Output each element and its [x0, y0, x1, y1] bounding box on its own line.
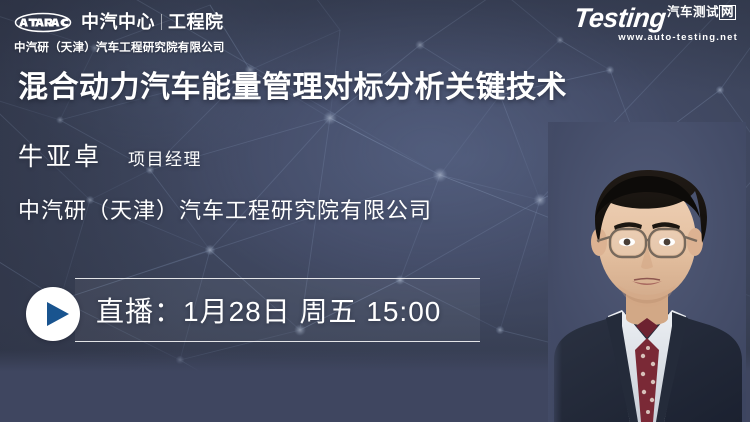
- watermark-cn-boxed: 网: [719, 5, 736, 20]
- speaker-company: 中汽研（天津）汽车工程研究院有限公司: [18, 193, 578, 225]
- speaker-name: 牛亚卓: [18, 137, 102, 173]
- page-title: 混合动力汽车能量管理对标分析关键技术: [18, 70, 578, 107]
- speaker-role: 项目经理: [128, 145, 202, 170]
- brand-subtitle: 中汽研（天津）汽车工程研究院有限公司: [14, 39, 225, 55]
- live-broadcast-bar[interactable]: 直播：1月28日 周五 15:00: [20, 278, 480, 350]
- header-logo-row: 中汽中心 工程院: [14, 10, 225, 34]
- brand-chinese-name: 中汽中心 工程院: [81, 13, 224, 31]
- brand-primary-label: 中汽中心: [81, 13, 155, 31]
- header-branding: 中汽中心 工程院 中汽研（天津）汽车工程研究院有限公司: [14, 10, 225, 55]
- play-button[interactable]: [26, 287, 80, 341]
- auto-testing-watermark: Testing 汽车测试网 www.auto-testing.net: [574, 6, 738, 42]
- watermark-chinese-name: 汽车测试网: [667, 5, 736, 20]
- speaker-row: 牛亚卓 项目经理: [18, 137, 578, 173]
- brand-secondary-label: 工程院: [168, 13, 224, 31]
- main-content: 混合动力汽车能量管理对标分析关键技术 牛亚卓 项目经理 中汽研（天津）汽车工程研…: [18, 70, 578, 225]
- watermark-wordmark: Testing: [573, 6, 667, 31]
- watermark-top-row: Testing 汽车测试网: [574, 6, 738, 31]
- play-triangle-icon: [47, 302, 69, 326]
- live-schedule-text: 直播：1月28日 周五 15:00: [96, 278, 441, 342]
- watermark-url: www.auto-testing.net: [574, 33, 738, 43]
- catarc-logo-icon: [14, 12, 72, 33]
- webinar-poster: 中汽中心 工程院 中汽研（天津）汽车工程研究院有限公司 Testing 汽车测试…: [0, 0, 750, 422]
- watermark-cn-prefix: 汽车测试: [667, 5, 719, 19]
- brand-separator-icon: [161, 14, 162, 30]
